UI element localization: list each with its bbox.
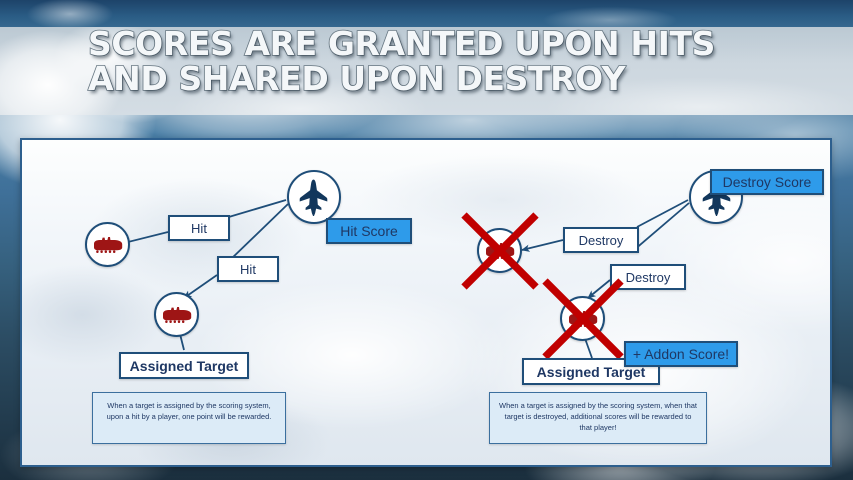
destroy-score-badge: Destroy Score: [710, 169, 824, 195]
content-panel: Hit Score Hit: [20, 138, 832, 467]
destroy-score-label: Destroy Score: [723, 175, 812, 189]
right-edge-label-1-text: Destroy: [579, 234, 624, 247]
left-jet-node: [287, 170, 341, 224]
left-caption-text: When a target is assigned by the scoring…: [107, 401, 272, 421]
slide-root: SCORES ARE GRANTED UPON HITS AND SHARED …: [0, 0, 853, 480]
left-target-a-node: [85, 222, 130, 267]
destroyed-mark-d-icon: [540, 276, 626, 362]
left-assigned-target-text: Assigned Target: [130, 359, 239, 373]
tank-target-icon: [92, 235, 124, 255]
left-edge-label-2: Hit: [217, 256, 279, 282]
left-target-b-node: [154, 292, 199, 337]
left-caption-box: When a target is assigned by the scoring…: [92, 392, 286, 444]
top-band: [0, 0, 853, 27]
fighter-jet-icon: [294, 178, 334, 216]
right-edge-label-1: Destroy: [563, 227, 639, 253]
right-caption-text: When a target is assigned by the scoring…: [499, 401, 697, 432]
addon-score-badge: + Addon Score!: [624, 341, 738, 367]
left-assigned-target-label: Assigned Target: [119, 352, 249, 379]
hit-score-badge: Hit Score: [326, 218, 412, 244]
hit-score-label: Hit Score: [340, 224, 398, 238]
tank-target-icon: [161, 305, 193, 325]
left-edge-label-2-text: Hit: [240, 263, 256, 276]
right-edge-label-2-text: Destroy: [626, 271, 671, 284]
destroyed-mark-c-icon: [459, 210, 541, 292]
addon-score-label: + Addon Score!: [633, 347, 729, 361]
page-title: SCORES ARE GRANTED UPON HITS AND SHARED …: [88, 26, 828, 96]
right-caption-box: When a target is assigned by the scoring…: [489, 392, 707, 444]
diagram-stage: Hit Score Hit: [22, 140, 830, 465]
left-edge-label-1: Hit: [168, 215, 230, 241]
left-edge-label-1-text: Hit: [191, 222, 207, 235]
